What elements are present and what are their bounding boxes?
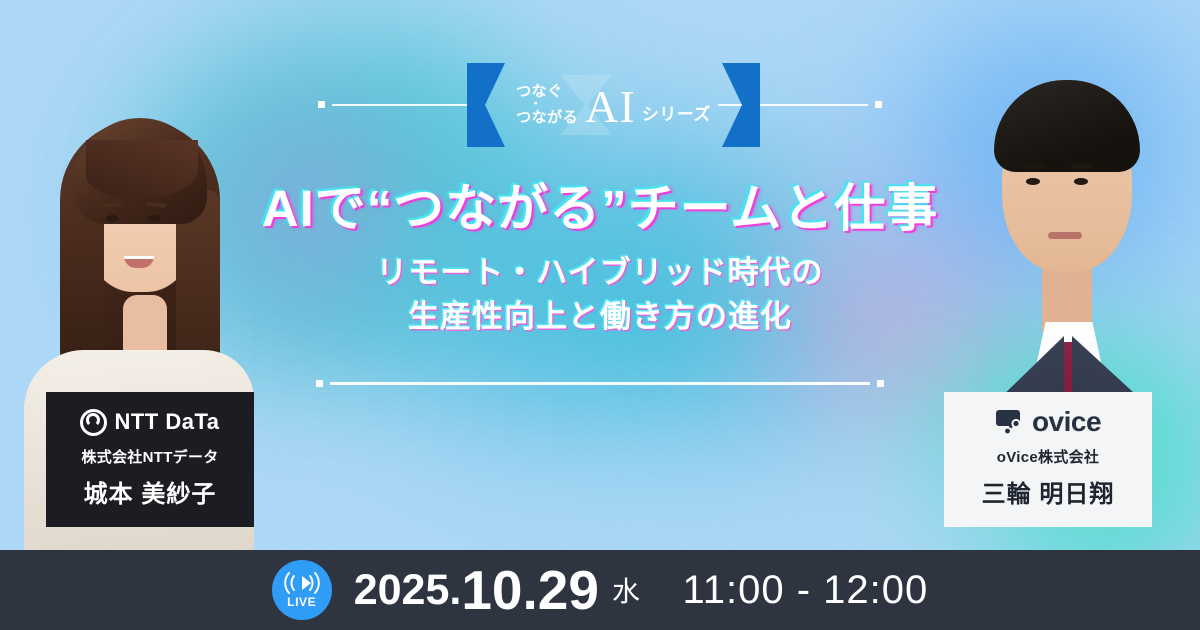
eyebrow-right xyxy=(1070,164,1094,169)
subtitle-line-1: リモート・ハイブリッド時代の xyxy=(0,251,1200,295)
subtitle-line-2: 生産性向上と働き方の進化 xyxy=(0,295,1200,339)
ribbon-text-tsunagaru: つながる xyxy=(516,109,578,127)
speaker-name-right: 三輪 明日翔 xyxy=(982,474,1115,509)
ovice-logo-icon xyxy=(995,408,1025,436)
schedule-month-day: 10.29 xyxy=(461,558,599,622)
schedule-time: 11:00 - 12:00 xyxy=(682,568,928,613)
speaker-card-ntt-data: NTT DaTa 株式会社NTTデータ 城本 美紗子 xyxy=(46,392,254,527)
schedule-year: 2025. xyxy=(354,566,462,615)
ntt-data-logo: NTT DaTa xyxy=(80,406,219,438)
eyebrow-left xyxy=(1022,164,1046,169)
ribbon-text-tsunagu: つなぐ xyxy=(516,83,578,101)
divider-dot-right xyxy=(877,380,884,387)
speaker-card-ovice: ovice oVice株式会社 三輪 明日翔 xyxy=(944,392,1152,527)
live-broadcast-icon xyxy=(282,572,322,594)
speaker-name-left: 城本 美紗子 xyxy=(84,474,217,509)
divider-line xyxy=(330,382,870,385)
webinar-banner: つなぐ ・ つながる AI シリーズ AIで“つながる”チームと仕事 リモート・… xyxy=(0,0,1200,630)
speaker-company-right: oVice株式会社 xyxy=(997,446,1099,467)
ribbon-dot-left xyxy=(318,101,325,108)
ribbon-subtext: つなぐ ・ つながる xyxy=(516,83,578,126)
title-block: AIで“つながる”チームと仕事 リモート・ハイブリッド時代の 生産性向上と働き方… xyxy=(0,180,1200,339)
divider-dot-left xyxy=(316,380,323,387)
ntt-data-logo-icon xyxy=(80,409,107,436)
ntt-data-wordmark: NTT DaTa xyxy=(114,409,219,435)
speaker-company-left: 株式会社NTTデータ xyxy=(81,446,218,467)
ovice-wordmark: ovice xyxy=(1032,406,1101,438)
ribbon-ai-text: AI xyxy=(585,84,636,130)
live-badge: LIVE xyxy=(272,560,332,620)
subtitle: リモート・ハイブリッド時代の 生産性向上と働き方の進化 xyxy=(0,251,1200,339)
schedule-bar: LIVE 2025. 10.29 水 11:00 - 12:00 xyxy=(0,550,1200,630)
ribbon-text-dot: ・ xyxy=(516,101,578,109)
ribbon-line-left xyxy=(332,104,482,106)
series-ribbon: つなぐ ・ つながる AI シリーズ xyxy=(0,63,1200,147)
ribbon-dot-right xyxy=(875,101,882,108)
schedule-day-of-week: 水 xyxy=(612,570,641,610)
live-label: LIVE xyxy=(287,595,316,609)
ribbon-series-text: シリーズ xyxy=(642,100,711,125)
ovice-logo: ovice xyxy=(995,406,1101,438)
main-title: AIで“つながる”チームと仕事 xyxy=(0,180,1200,239)
